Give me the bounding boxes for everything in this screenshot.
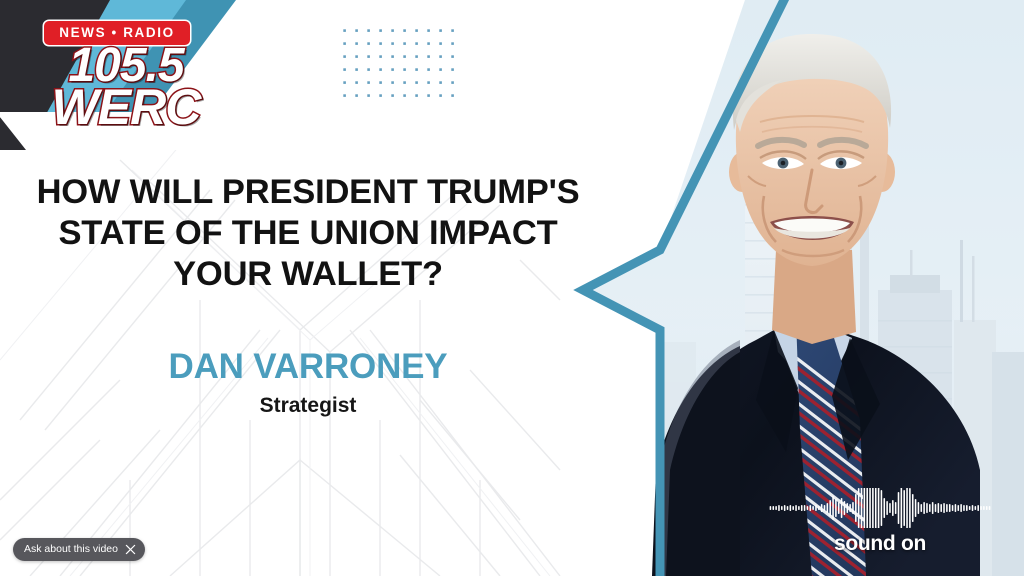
headline-line-3: YOUR WALLET? [173,255,443,293]
logo-callsign: WERC [46,80,206,134]
speaker-role: Strategist [24,393,592,419]
ask-about-video-chip[interactable]: Ask about this video [13,538,145,561]
logo-kicker-text: NEWS • RADIO [59,26,174,40]
speaker-name: DAN VARRONEY [24,347,592,387]
audio-waveform [769,488,991,528]
close-icon[interactable] [125,544,136,555]
sound-on-indicator[interactable]: sound on [760,488,1000,560]
video-frame: NEWS • RADIO 105.5 WERC HOW WILL PRESIDE… [0,0,1024,576]
headline: HOW WILL PRESIDENT TRUMP'S STATE OF THE … [24,172,592,295]
ask-about-video-label: Ask about this video [24,544,118,555]
headline-line-2: STATE OF THE UNION IMPACT [58,214,557,252]
sound-on-label: sound on [760,532,1000,556]
dot-grid [341,27,456,104]
text-block: HOW WILL PRESIDENT TRUMP'S STATE OF THE … [24,172,592,419]
headline-line-1: HOW WILL PRESIDENT TRUMP'S [37,173,580,211]
shoulder-overflow [560,330,740,576]
station-logo: NEWS • RADIO 105.5 WERC [0,0,236,150]
